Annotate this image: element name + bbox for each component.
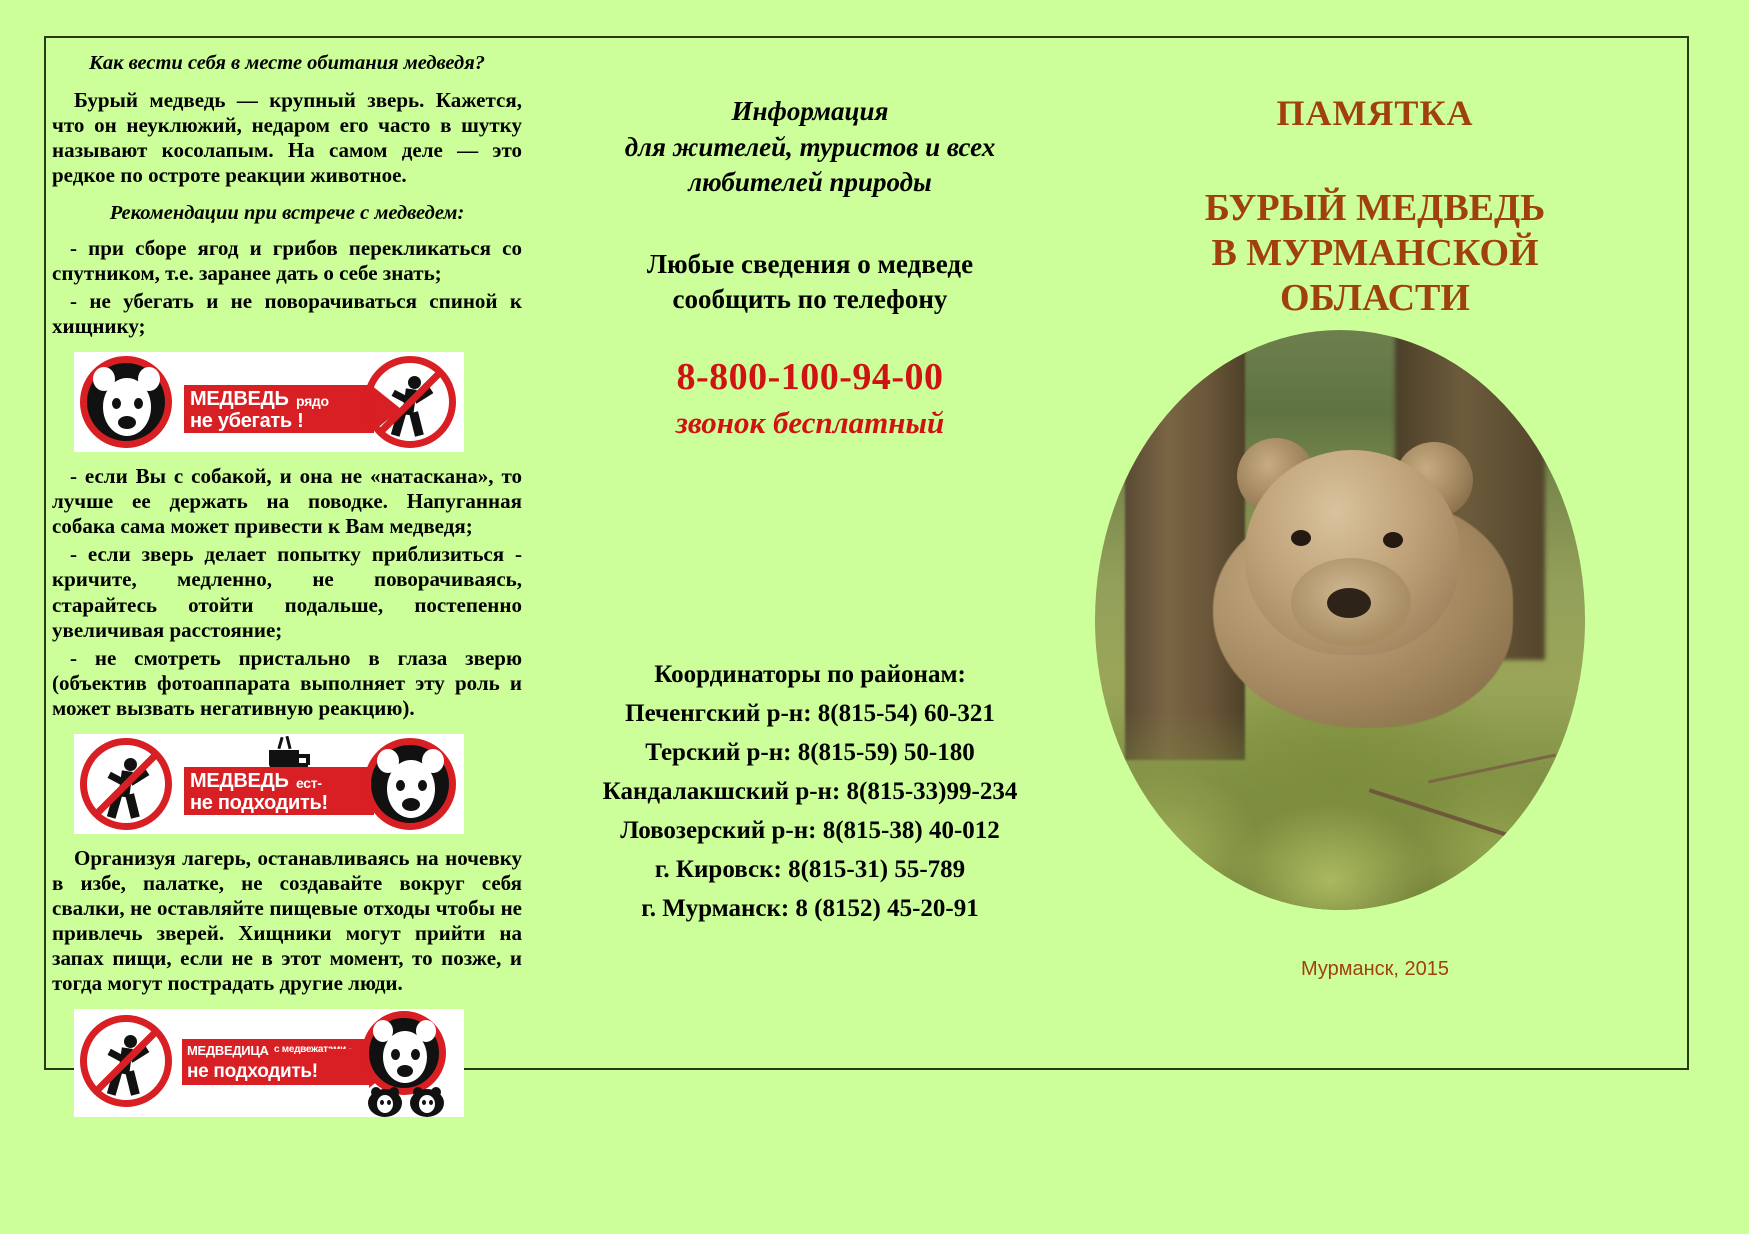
- cover-title: БУРЫЙ МЕДВЕДЬ В МУРМАНСКОЙ ОБЛАСТИ: [1075, 186, 1675, 320]
- publication-footer: Мурманск, 2015: [1075, 958, 1675, 981]
- coordinator-tersky[interactable]: Терский р-н: 8(815-59) 50-180: [560, 739, 1060, 767]
- sign-bear-nearby: МЕДВЕДЬ рядом- не убегать !: [74, 352, 464, 452]
- left-recommendation-4: - если зверь делает попытку приблизиться…: [52, 542, 522, 643]
- left-recommendation-2: - не убегать и не поворачиваться спиной …: [52, 289, 522, 339]
- sign-banner-line2: не подходить!: [190, 792, 328, 815]
- cover-title-line3: ОБЛАСТИ: [1075, 276, 1675, 321]
- cover-title-line1: БУРЫЙ МЕДВЕДЬ: [1075, 186, 1675, 231]
- coordinator-pechengsky[interactable]: Печенгский р-н: 8(815-54) 60-321: [560, 700, 1060, 728]
- steaming-cup-icon: [267, 736, 313, 770]
- left-paragraph-camp-advice: Организуя лагерь, останавливаясь на ноче…: [52, 846, 522, 997]
- left-paragraph-bear-description: Бурый медведь — крупный зверь. Кажется, …: [52, 88, 522, 189]
- sign-banner-line1: МЕДВЕДЬ: [190, 388, 289, 411]
- tree-trunk: [1125, 330, 1245, 760]
- bear-cub-eye-left: [1291, 530, 1311, 546]
- bear-with-cubs-icon: [362, 1011, 458, 1115]
- sign-banner-line1-small: ест-: [296, 775, 322, 791]
- left-heading-recommendations: Рекомендации при встрече с медведем:: [52, 202, 522, 226]
- report-subtitle-line1: Любые сведения о медведе: [560, 247, 1060, 282]
- sign-banner-line1: МЕДВЕДЬ: [190, 770, 289, 793]
- hotline-free-note: звонок бесплатный: [560, 405, 1060, 441]
- hotline-number[interactable]: 8-800-100-94-00: [560, 355, 1060, 399]
- left-recommendation-3: - если Вы с собакой, и она не «натаскана…: [52, 464, 522, 540]
- sign-bear-with-cubs: МЕДВЕДИЦА с медвежатами - не подходить!: [74, 1009, 464, 1117]
- sign-bear-eating: МЕДВЕДЬ ест- не подходить!: [74, 734, 464, 834]
- bear-cub-nose: [1327, 588, 1371, 618]
- info-title-line1: Информация: [560, 94, 1060, 130]
- middle-column: Информация для жителей, туристов и всех …: [560, 52, 1060, 1062]
- bear-cub-icon: [410, 1087, 444, 1117]
- no-running-icon: [80, 1015, 172, 1107]
- info-title: Информация для жителей, туристов и всех …: [560, 94, 1060, 201]
- left-recommendation-5: - не смотреть пристально в глаза зверю (…: [52, 646, 522, 722]
- bear-cub-icon: [368, 1087, 402, 1117]
- report-subtitle: Любые сведения о медведе сообщить по тел…: [560, 247, 1060, 317]
- bear-cub-photo: [1095, 330, 1585, 910]
- sign-banner-line1: МЕДВЕДИЦА: [187, 1043, 269, 1058]
- foliage: [1095, 710, 1585, 910]
- no-running-icon: [80, 738, 172, 830]
- coordinators-heading: Координаторы по районам:: [560, 661, 1060, 689]
- coordinator-kandalakshsky[interactable]: Кандалакшский р-н: 8(815-33)99-234: [560, 778, 1060, 806]
- left-recommendation-1: - при сборе ягод и грибов перекликаться …: [52, 236, 522, 286]
- brochure-page: Как вести себя в месте обитания медведя?…: [0, 0, 1749, 1234]
- info-title-line3: любителей природы: [560, 165, 1060, 201]
- bear-head-icon: [364, 738, 456, 830]
- cover-title-line2: В МУРМАНСКОЙ: [1075, 231, 1675, 276]
- cover-kicker: ПАМЯТКА: [1075, 92, 1675, 134]
- sign-banner-line2: не подходить!: [187, 1061, 318, 1083]
- no-running-icon: [364, 356, 456, 448]
- bear-head-icon: [80, 356, 172, 448]
- info-title-line2: для жителей, туристов и всех: [560, 130, 1060, 166]
- coordinator-kirovsk[interactable]: г. Кировск: 8(815-31) 55-789: [560, 856, 1060, 884]
- left-heading-behaviour: Как вести себя в месте обитания медведя?: [52, 52, 522, 76]
- sign-banner-line2: не убегать !: [190, 410, 304, 433]
- report-subtitle-line2: сообщить по телефону: [560, 282, 1060, 317]
- coordinator-lovozersky[interactable]: Ловозерский р-н: 8(815-38) 40-012: [560, 817, 1060, 845]
- bear-cub-eye-right: [1383, 532, 1403, 548]
- left-column: Как вести себя в месте обитания медведя?…: [52, 52, 522, 1062]
- coordinator-murmansk[interactable]: г. Мурманск: 8 (8152) 45-20-91: [560, 895, 1060, 923]
